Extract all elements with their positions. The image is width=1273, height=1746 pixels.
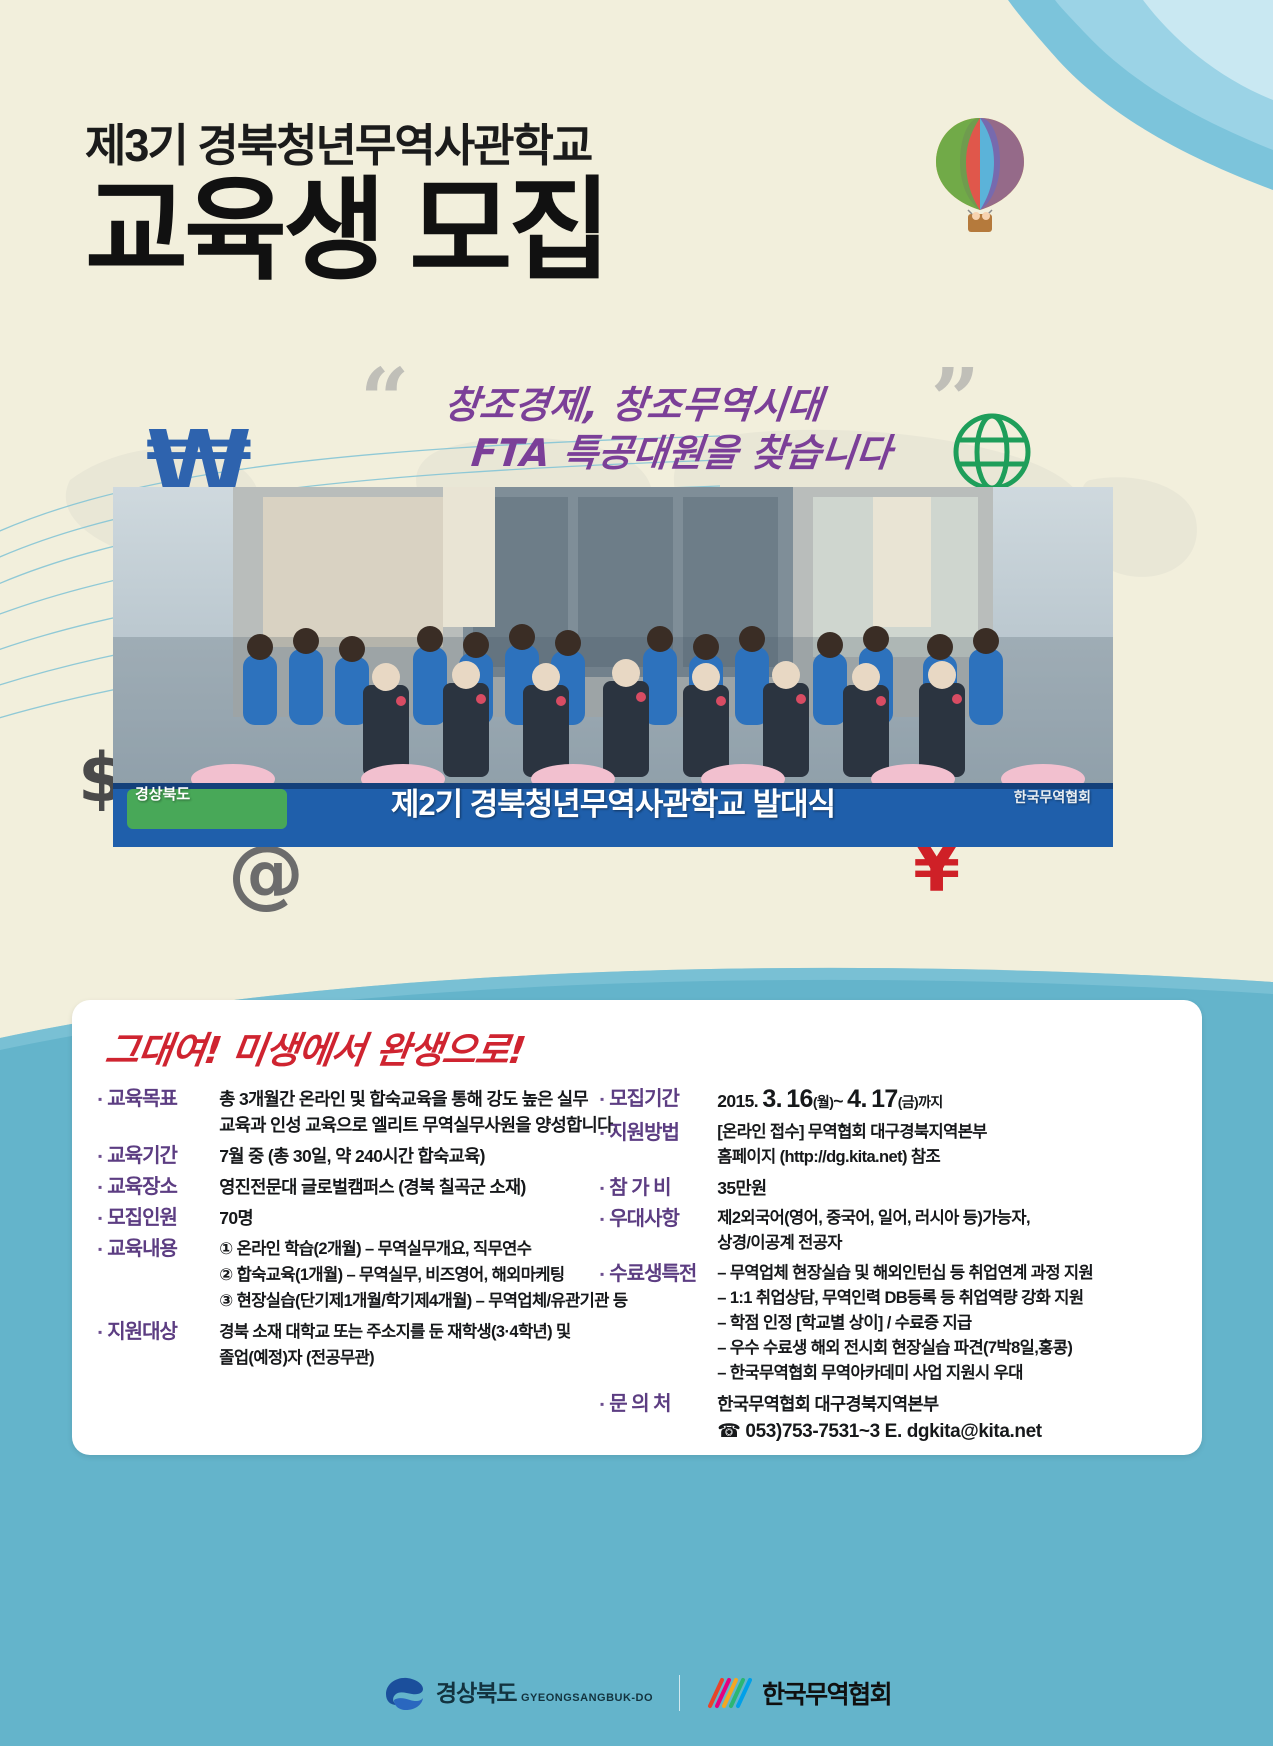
bullet-icon: ▪ (600, 1261, 604, 1287)
info-label: 교육내용 (107, 1236, 219, 1262)
info-value: 경북 소재 대학교 또는 주소지를 둔 재학생(3·4학년) 및 졸업(예정)자… (219, 1319, 638, 1371)
logo-gyeongsangbuk-do: 경상북도 GYEONGSANGBUK-DO (382, 1674, 653, 1712)
info-value: – 무역업체 현장실습 및 해외인턴십 등 취업연계 과정 지원 – 1:1 취… (717, 1261, 1192, 1386)
footer-divider (679, 1675, 680, 1711)
photo-logo-kita: 한국무역협회 (1014, 787, 1091, 807)
slogan-line-2: FTA 특공대원을 찾습니다 (469, 422, 894, 477)
ceremony-photo: 제2기 경북청년무역사관학교 발대식 경상북도 한국무역협회 (113, 487, 1113, 847)
info-value: 35만원 (717, 1175, 1192, 1201)
info-label: 수료생특전 (609, 1261, 717, 1287)
poster-headline: 제3기 경북청년무역사관학교 교육생 모집 (85, 120, 985, 288)
info-column-right: ▪ 모집기간 2015. 3. 16(월)~ 4. 17(금)까지 ▪ 지원방법… (600, 1086, 1192, 1450)
info-row-education-period: ▪ 교육기간 7월 중 (총 30일, 약 240시간 합숙교육) (98, 1143, 638, 1169)
slogan-line-1: 창조경제, 창조무역시대 (442, 374, 825, 429)
info-value: 70명 (219, 1205, 638, 1231)
info-label: 교육목표 (107, 1086, 219, 1112)
info-label: 문 의 처 (609, 1391, 717, 1417)
info-row-education-place: ▪ 교육장소 영진전문대 글로벌캠퍼스 (경북 칠곡군 소재) (98, 1174, 638, 1200)
info-row-application-period: ▪ 모집기간 2015. 3. 16(월)~ 4. 17(금)까지 (600, 1086, 1192, 1115)
info-label: 지원방법 (609, 1120, 717, 1146)
info-value: 7월 중 (총 30일, 약 240시간 합숙교육) (219, 1143, 638, 1169)
photo-banner-text: 제2기 경북청년무역사관학교 발대식 (113, 779, 1113, 824)
info-label: 교육기간 (107, 1143, 219, 1169)
info-column-left: ▪ 교육목표 총 3개월간 온라인 및 합숙교육을 통해 강도 높은 실무 교육… (98, 1086, 638, 1376)
info-label: 모집기간 (609, 1086, 717, 1112)
info-value-date-range: 2015. 3. 16(월)~ 4. 17(금)까지 (717, 1086, 1192, 1115)
page-title: 교육생 모집 (85, 174, 985, 288)
bullet-icon: ▪ (98, 1236, 102, 1262)
info-value-contact: 한국무역협회 대구경북지역본부 ☎ 053)753-7531~3 E. dgki… (717, 1391, 1192, 1445)
photo-logo-gyeongsangbuk: 경상북도 (135, 783, 190, 804)
info-value: 영진전문대 글로벌캠퍼스 (경북 칠곡군 소재) (219, 1174, 638, 1200)
quote-open-icon: “ (360, 366, 409, 437)
info-value: 제2외국어(영어, 중국어, 일어, 러시아 등)가능자, 상경/이공계 전공자 (717, 1206, 1192, 1256)
kita-ko: 한국무역협회 (762, 1675, 891, 1711)
info-value: [온라인 접수] 무역협회 대구경북지역본부 홈페이지 (http://dg.k… (717, 1120, 1192, 1170)
info-label: 모집인원 (107, 1205, 219, 1231)
info-label: 지원대상 (107, 1319, 219, 1345)
info-label: 우대사항 (609, 1206, 717, 1232)
bullet-icon: ▪ (600, 1120, 604, 1146)
bullet-icon: ▪ (98, 1205, 102, 1231)
info-label: 참 가 비 (609, 1175, 717, 1201)
logo-kita: 한국무역협회 (706, 1675, 891, 1711)
globe-icon (950, 410, 1034, 494)
bullet-icon: ▪ (600, 1206, 604, 1232)
info-row-eligibility: ▪ 지원대상 경북 소재 대학교 또는 주소지를 둔 재학생(3·4학년) 및 … (98, 1319, 638, 1371)
bullet-icon: ▪ (600, 1175, 604, 1201)
poster-canvas: 제3기 경북청년무역사관학교 교육생 모집 “ 창조경제, 창조무역시대 FTA… (0, 0, 1273, 1746)
gyeongsangbuk-en: GYEONGSANGBUK-DO (521, 1692, 653, 1704)
info-card: 그대여! 미생에서 완생으로! ▪ 교육목표 총 3개월간 온라인 및 합숙교육… (72, 1000, 1202, 1455)
gyeongsangbuk-ko: 경상북도 (436, 1680, 517, 1706)
contact-phone-email[interactable]: ☎ 053)753-7531~3 E. dgkita@kita.net (717, 1418, 1192, 1445)
info-row-graduate-benefits: ▪ 수료생특전 – 무역업체 현장실습 및 해외인턴십 등 취업연계 과정 지원… (600, 1261, 1192, 1386)
footer-logos: 경상북도 GYEONGSANGBUK-DO (0, 1658, 1273, 1728)
info-row-contact: ▪ 문 의 처 한국무역협회 대구경북지역본부 ☎ 053)753-7531~3… (600, 1391, 1192, 1445)
slogan-quote-block: “ 창조경제, 창조무역시대 FTA 특공대원을 찾습니다 ” (360, 360, 980, 480)
card-title: 그대여! 미생에서 완생으로! (102, 1020, 529, 1074)
info-row-education-goal: ▪ 교육목표 총 3개월간 온라인 및 합숙교육을 통해 강도 높은 실무 교육… (98, 1086, 638, 1138)
info-row-application-method: ▪ 지원방법 [온라인 접수] 무역협회 대구경북지역본부 홈페이지 (http… (600, 1120, 1192, 1170)
bullet-icon: ▪ (600, 1086, 604, 1112)
info-label: 교육장소 (107, 1174, 219, 1200)
info-row-preference: ▪ 우대사항 제2외국어(영어, 중국어, 일어, 러시아 등)가능자, 상경/… (600, 1206, 1192, 1256)
info-value: ① 온라인 학습(2개월) – 무역실무개요, 직무연수 ② 합숙교육(1개월)… (219, 1236, 638, 1314)
bullet-icon: ▪ (98, 1143, 102, 1169)
kita-mark-icon (706, 1676, 752, 1710)
bullet-icon: ▪ (98, 1319, 102, 1345)
info-row-fee: ▪ 참 가 비 35만원 (600, 1175, 1192, 1201)
gyeongsangbuk-mark-icon (382, 1674, 426, 1712)
bullet-icon: ▪ (98, 1086, 102, 1112)
bullet-icon: ▪ (600, 1391, 604, 1417)
kicker-text: 제3기 경북청년무역사관학교 (85, 120, 985, 172)
info-value: 총 3개월간 온라인 및 합숙교육을 통해 강도 높은 실무 교육과 인성 교육… (219, 1086, 638, 1138)
info-row-curriculum: ▪ 교육내용 ① 온라인 학습(2개월) – 무역실무개요, 직무연수 ② 합숙… (98, 1236, 638, 1314)
bullet-icon: ▪ (98, 1174, 102, 1200)
info-row-quota: ▪ 모집인원 70명 (98, 1205, 638, 1231)
